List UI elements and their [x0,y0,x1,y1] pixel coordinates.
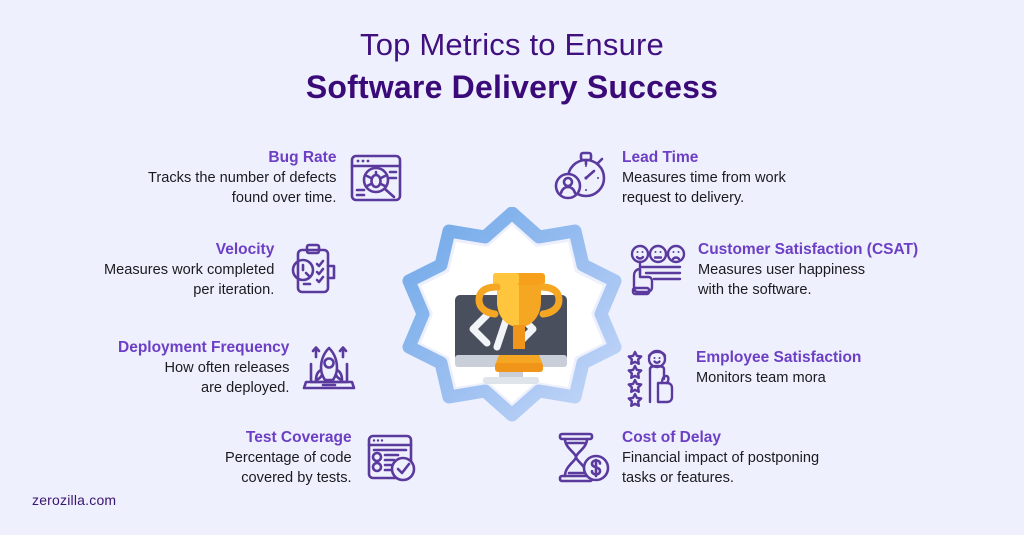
checklist-document-check-icon [362,428,422,488]
metric-label: Bug Rate [268,148,336,169]
stopwatch-user-icon [552,148,612,208]
metric-desc-line-1: Measures time from work [622,169,786,189]
metric-desc-line-1: How often releases [164,359,289,379]
metric-desc-line-2: covered by tests. [241,469,351,489]
metric-desc-line-2: tasks or features. [622,469,734,489]
metric-desc-line-2: with the software. [698,281,812,301]
clipboard-checklist-clock-icon [284,240,344,300]
metric-desc-line-1: Monitors team mora [696,369,826,389]
metric-lead-time: Lead Time Measures time from work reques… [552,148,786,209]
metric-text: Deployment Frequency How often releases … [118,338,289,399]
metric-desc-line-2: per iteration. [193,281,274,301]
metric-text: Employee Satisfaction Monitors team mora [696,348,861,389]
feedback-faces-hand-icon [628,240,688,300]
metric-text: Cost of Delay Financial impact of postpo… [622,428,819,489]
metric-label: Cost of Delay [622,428,721,449]
metric-cost-of-delay: Cost of Delay Financial impact of postpo… [552,428,819,489]
metric-text: Test Coverage Percentage of code covered… [225,428,352,489]
metric-bug-rate: Bug Rate Tracks the number of defects fo… [148,148,406,209]
metric-text: Customer Satisfaction (CSAT) Measures us… [698,240,918,301]
metric-label: Velocity [216,240,275,261]
metric-desc-line-1: Percentage of code [225,449,352,469]
title-line-1: Top Metrics to Ensure [0,26,1024,65]
metric-label: Deployment Frequency [118,338,289,359]
trophy-monitor-badge-icon [399,207,625,433]
metric-text: Bug Rate Tracks the number of defects fo… [148,148,336,209]
metric-employee-satisfaction: Employee Satisfaction Monitors team mora [626,348,861,408]
metric-desc-line-1: Measures user happiness [698,261,865,281]
metric-label: Employee Satisfaction [696,348,861,369]
metric-deployment-frequency: Deployment Frequency How often releases … [118,338,359,399]
metric-desc-line-2: are deployed. [201,379,289,399]
metric-desc-line-1: Tracks the number of defects [148,169,336,189]
metric-label: Customer Satisfaction (CSAT) [698,240,918,261]
hourglass-dollar-icon [552,428,612,488]
metric-label: Lead Time [622,148,698,169]
metric-desc-line-2: found over time. [232,189,337,209]
person-thumbsup-stars-icon [626,348,686,408]
title-line-2: Software Delivery Success [0,67,1024,109]
rocket-laptop-icon [299,338,359,398]
metric-customer-satisfaction: Customer Satisfaction (CSAT) Measures us… [628,240,918,301]
page-title: Top Metrics to Ensure Software Delivery … [0,26,1024,108]
bug-search-window-icon [346,148,406,208]
metric-desc-line-1: Measures work completed [104,261,274,281]
metric-text: Lead Time Measures time from work reques… [622,148,786,209]
metric-label: Test Coverage [246,428,352,449]
metric-desc-line-2: request to delivery. [622,189,744,209]
metric-desc-line-1: Financial impact of postponing [622,449,819,469]
metric-text: Velocity Measures work completed per ite… [104,240,274,301]
footer-website[interactable]: zerozilla.com [32,492,116,508]
center-badge [399,207,625,433]
infographic-canvas: Top Metrics to Ensure Software Delivery … [0,0,1024,535]
metric-velocity: Velocity Measures work completed per ite… [104,240,344,301]
metric-test-coverage: Test Coverage Percentage of code covered… [225,428,422,489]
